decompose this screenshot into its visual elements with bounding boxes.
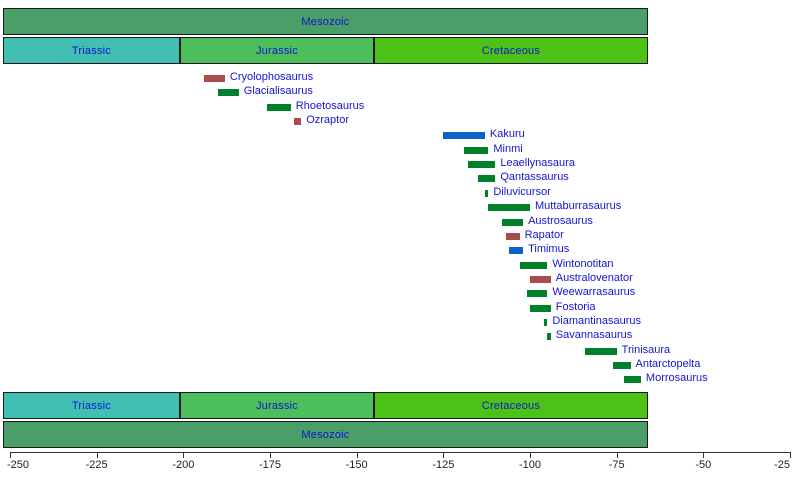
taxon-label: Rapator	[525, 229, 564, 242]
taxon-range-bar	[488, 204, 530, 211]
taxon-label: Rhoetosaurus	[296, 100, 365, 113]
taxon-range-bar	[204, 75, 225, 82]
taxon-label: Leaellynasaura	[500, 157, 575, 170]
taxon-label: Fostoria	[556, 301, 596, 314]
x-axis-tick-label: -200	[172, 459, 194, 471]
taxon-label: Diluvicursor	[493, 186, 550, 199]
taxon-label: Austrosaurus	[528, 215, 593, 228]
period-band-label: Jurassic	[256, 400, 298, 412]
taxon-range-bar	[294, 118, 301, 125]
taxon-label: Timimus	[528, 243, 569, 256]
taxon-row: Rhoetosaurus	[0, 102, 800, 113]
taxon-label: Savannasaurus	[556, 329, 632, 342]
period-band-label: Cretaceous	[482, 400, 540, 412]
taxon-range-bar	[464, 147, 488, 154]
x-axis-tick-label: -25	[774, 459, 790, 471]
taxon-row: Minmi	[0, 145, 800, 156]
taxon-range-bar	[267, 104, 291, 111]
era-band-label: Mesozoic	[301, 16, 349, 28]
taxon-row: Weewarrasaurus	[0, 288, 800, 299]
taxon-row: Ozraptor	[0, 116, 800, 127]
x-axis-tick-label: -225	[86, 459, 108, 471]
taxon-range-bar	[502, 219, 523, 226]
taxon-range-bar	[468, 161, 496, 168]
period-band-label: Jurassic	[256, 45, 298, 57]
x-axis-tick	[97, 452, 98, 458]
taxon-row: Wintonotitan	[0, 260, 800, 271]
taxon-row: Trinisaura	[0, 346, 800, 357]
taxon-row: Rapator	[0, 231, 800, 242]
taxon-row: Timimus	[0, 245, 800, 256]
x-axis-tick-label: -125	[432, 459, 454, 471]
taxon-row: Diluvicursor	[0, 188, 800, 199]
x-axis-tick-label: -75	[609, 459, 625, 471]
taxon-range-bar	[547, 333, 550, 340]
x-axis-tick	[183, 452, 184, 458]
taxon-row: Austrosaurus	[0, 217, 800, 228]
taxon-label: Glacialisaurus	[244, 85, 313, 98]
taxon-label: Diamantinasaurus	[552, 315, 641, 328]
taxon-label: Cryolophosaurus	[230, 71, 313, 84]
taxon-range-bar	[527, 290, 548, 297]
period-band-label: Triassic	[72, 45, 111, 57]
taxon-label: Weewarrasaurus	[552, 286, 635, 299]
period-band-bottom-jurassic: Jurassic	[180, 392, 374, 419]
x-axis-tick	[357, 452, 358, 458]
taxon-label: Antarctopelta	[636, 358, 701, 371]
era-band-bottom-mesozoic: Mesozoic	[3, 421, 648, 448]
x-axis-tick	[530, 452, 531, 458]
period-band-jurassic: Jurassic	[180, 37, 374, 64]
taxon-range-bar	[506, 233, 520, 240]
taxon-label: Kakuru	[490, 128, 525, 141]
x-axis-tick-label: -175	[259, 459, 281, 471]
taxon-range-bar	[530, 305, 551, 312]
taxon-range-bar	[585, 348, 616, 355]
taxon-range-bar	[509, 247, 523, 254]
taxon-range-bar	[443, 132, 485, 139]
x-axis-line	[10, 452, 790, 453]
taxon-range-bar	[218, 89, 239, 96]
taxon-row: Cryolophosaurus	[0, 73, 800, 84]
taxon-label: Qantassaurus	[500, 171, 568, 184]
taxon-row: Fostoria	[0, 303, 800, 314]
x-axis-tick	[703, 452, 704, 458]
taxon-range-bar	[520, 262, 548, 269]
taxon-label: Muttaburrasaurus	[535, 200, 621, 213]
taxon-range-bar	[544, 319, 547, 326]
period-band-label: Cretaceous	[482, 45, 540, 57]
x-axis-tick	[10, 452, 11, 458]
x-axis-tick	[617, 452, 618, 458]
taxon-label: Wintonotitan	[552, 258, 613, 271]
era-band-label: Mesozoic	[301, 429, 349, 441]
x-axis-tick	[443, 452, 444, 458]
taxon-range-bar	[478, 175, 495, 182]
taxon-row: Muttaburrasaurus	[0, 202, 800, 213]
x-axis-tick-label: -150	[346, 459, 368, 471]
geologic-timescale-chart: MesozoicTriassicJurassicCretaceous Cryol…	[0, 0, 800, 495]
taxon-range-bar	[530, 276, 551, 283]
taxon-row: Diamantinasaurus	[0, 317, 800, 328]
taxon-label: Trinisaura	[622, 344, 671, 357]
taxon-row: Qantassaurus	[0, 173, 800, 184]
x-axis-tick-label: -100	[519, 459, 541, 471]
period-band-bottom-triassic: Triassic	[3, 392, 180, 419]
period-band-label: Triassic	[72, 400, 111, 412]
taxon-label: Minmi	[493, 143, 522, 156]
taxon-row: Morrosaurus	[0, 374, 800, 385]
taxon-row: Australovenator	[0, 274, 800, 285]
taxon-label: Morrosaurus	[646, 372, 708, 385]
taxon-range-bar	[485, 190, 488, 197]
period-band-cretaceous: Cretaceous	[374, 37, 648, 64]
taxon-row: Leaellynasaura	[0, 159, 800, 170]
era-band-mesozoic: Mesozoic	[3, 8, 648, 35]
x-axis-tick	[790, 452, 791, 458]
period-band-bottom-cretaceous: Cretaceous	[374, 392, 648, 419]
x-axis-tick	[270, 452, 271, 458]
period-band-triassic: Triassic	[3, 37, 180, 64]
taxon-row: Kakuru	[0, 130, 800, 141]
taxon-row: Glacialisaurus	[0, 87, 800, 98]
taxon-row: Savannasaurus	[0, 331, 800, 342]
x-axis-tick-label: -50	[695, 459, 711, 471]
taxon-label: Australovenator	[556, 272, 633, 285]
taxon-range-bar	[613, 362, 630, 369]
taxon-range-bar	[624, 376, 641, 383]
taxon-row: Antarctopelta	[0, 360, 800, 371]
x-axis-tick-label: -250	[7, 459, 29, 471]
taxon-label: Ozraptor	[306, 114, 349, 127]
